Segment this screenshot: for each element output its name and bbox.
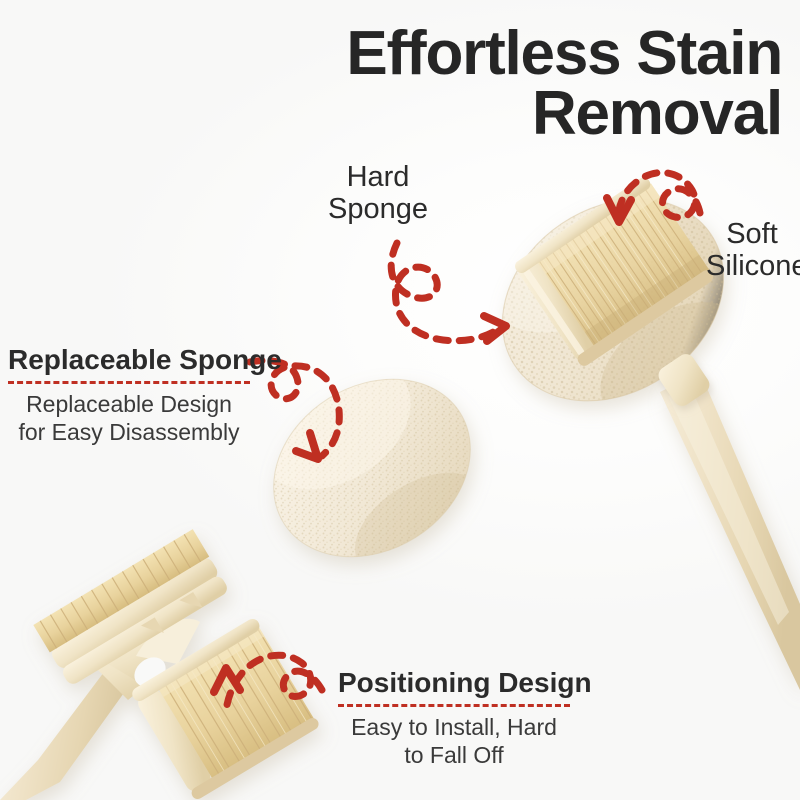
infographic-canvas: Effortless Stain Removal Hard Sponge Sof… bbox=[0, 0, 800, 800]
page-title: Effortless Stain Removal bbox=[162, 24, 782, 143]
callout-arrows bbox=[214, 173, 700, 710]
silicone-bristles bbox=[533, 183, 709, 349]
arrow-positioning bbox=[214, 655, 322, 710]
silicone-mount-rail bbox=[513, 175, 716, 368]
sponge-mount-clip bbox=[655, 351, 713, 410]
arrow-soft-silicone bbox=[607, 173, 700, 222]
label-soft-silicone: Soft Silicone bbox=[706, 218, 798, 283]
feature-heading: Replaceable Sponge bbox=[8, 345, 250, 374]
arrow-hard-sponge bbox=[391, 243, 506, 341]
main-brush-handle bbox=[660, 372, 800, 690]
main-sponge-head bbox=[450, 146, 766, 447]
feature-positioning-design: Positioning Design Easy to Install, Hard… bbox=[338, 668, 570, 769]
bare-brush-head bbox=[0, 529, 321, 800]
silicone-bristle-strip bbox=[513, 175, 716, 368]
feature-heading: Positioning Design bbox=[338, 668, 570, 697]
feature-divider bbox=[8, 381, 250, 384]
feature-subtext: Easy to Install, Hard to Fall Off bbox=[338, 713, 570, 769]
feature-divider bbox=[338, 704, 570, 707]
label-hard-sponge: Hard Sponge bbox=[318, 161, 438, 226]
arrow-replaceable bbox=[250, 361, 339, 459]
feature-replaceable-sponge: Replaceable Sponge Replaceable Design fo… bbox=[8, 345, 250, 446]
feature-subtext: Replaceable Design for Easy Disassembly bbox=[8, 390, 250, 446]
